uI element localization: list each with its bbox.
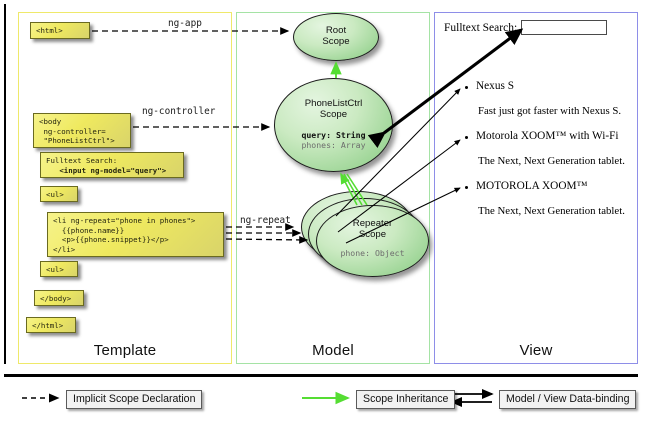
fulltext-search-label: Fulltext Search: (444, 22, 517, 34)
scope-root-title-2: Scope (322, 36, 349, 47)
code-box-li-ng-repeat: <li ng-repeat="phone in phones"> {{phone… (47, 212, 224, 257)
code-box-fulltext-search: Fulltext Search: <input ng-model="query"… (40, 152, 184, 178)
column-label-template: Template (19, 342, 231, 359)
scope-phonelistctrl-title-2: Scope (320, 109, 347, 120)
frame-left-border (4, 4, 6, 364)
scope-field-phone: phone: Object (317, 248, 428, 258)
legend-marker-model-view-data-binding (452, 394, 492, 402)
scope-field-phones: phones: Array (275, 140, 392, 150)
legend-label-scope-inheritance: Scope Inheritance (356, 390, 455, 409)
scope-root: Root Scope (293, 13, 379, 61)
scope-repeater-title-1: Repeater (353, 218, 392, 229)
edge-label-ng-app: ng-app (168, 18, 202, 29)
legend-label-implicit-scope-declaration: Implicit Scope Declaration (66, 390, 202, 409)
code-box-ul-open: <ul> (40, 186, 78, 202)
view-item-name-1: Motorola XOOM™ with Wi-Fi (476, 130, 619, 142)
scope-field-query: query: String (275, 130, 392, 140)
scope-repeater-title-2: Scope (359, 229, 386, 240)
view-item-snippet-1: The Next, Next Generation tablet. (478, 155, 625, 167)
code-box-body-close: </body> (34, 290, 84, 306)
legend-divider-rule (4, 374, 638, 377)
column-label-view: View (435, 342, 637, 359)
legend-label-model-view-data-binding: Model / View Data-binding (499, 390, 636, 409)
code-box-ul-close: <ul> (40, 261, 78, 277)
code-box-html-open: <html> (30, 22, 90, 39)
scope-root-title-1: Root (326, 25, 346, 36)
code-box-body-open: <body ng-controller= "PhoneListCtrl"> (33, 113, 131, 148)
view-item-snippet-0: Fast just got faster with Nexus S. (478, 105, 621, 117)
edge-label-ng-repeat: ng-repeat (240, 215, 291, 226)
scope-repeater-front: Repeater Scope phone: Object (316, 205, 429, 277)
view-item-name-0: Nexus S (476, 80, 514, 92)
diagram-canvas: Template <html> <body ng-controller= "Ph… (0, 0, 645, 425)
view-item-name-2: MOTOROLA XOOM™ (476, 180, 588, 192)
code-box-html-close: </html> (26, 317, 76, 333)
scope-phonelistctrl: PhoneListCtrl Scope query: String phones… (274, 78, 393, 172)
scope-phonelistctrl-title-1: PhoneListCtrl (305, 98, 363, 109)
column-label-model: Model (237, 342, 429, 359)
column-model: Model (236, 12, 430, 364)
view-item-snippet-2: The Next, Next Generation tablet. (478, 205, 625, 217)
edge-label-ng-controller: ng-controller (142, 106, 215, 117)
fulltext-search-input[interactable] (521, 20, 607, 35)
